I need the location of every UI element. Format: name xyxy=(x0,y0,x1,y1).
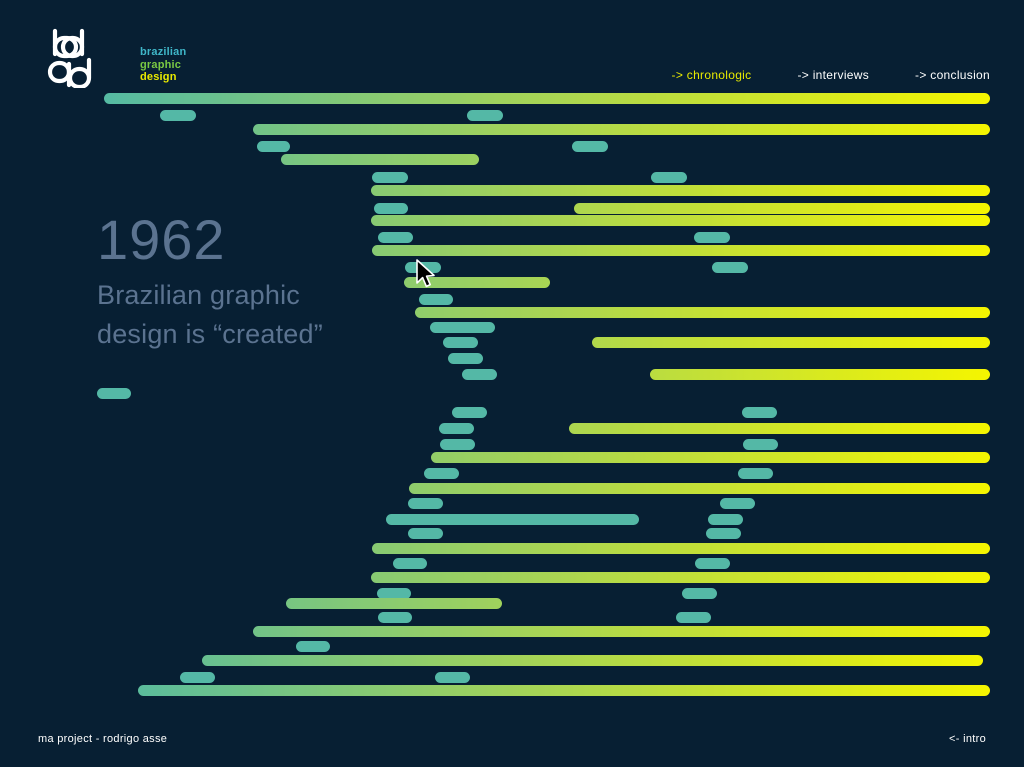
footer-credit: ma project - rodrigo asse xyxy=(38,733,167,745)
timeline-marker[interactable] xyxy=(708,514,743,525)
page-subtitle-line1: Brazilian graphic xyxy=(97,276,417,315)
timeline-bar[interactable] xyxy=(253,124,990,135)
timeline-marker[interactable] xyxy=(408,498,443,509)
timeline-bar[interactable] xyxy=(371,572,990,583)
timeline-marker[interactable] xyxy=(467,110,503,121)
timeline-marker[interactable] xyxy=(440,439,475,450)
timeline-bar[interactable] xyxy=(371,185,990,196)
timeline-marker[interactable] xyxy=(695,558,730,569)
timeline-marker[interactable] xyxy=(743,439,778,450)
timeline-bar[interactable] xyxy=(253,626,990,637)
brand-word-graphic: graphic xyxy=(140,59,186,72)
timeline-marker[interactable] xyxy=(462,369,497,380)
timeline-marker[interactable] xyxy=(430,322,495,333)
timeline-marker[interactable] xyxy=(651,172,687,183)
timeline-marker[interactable] xyxy=(720,498,755,509)
timeline-marker[interactable] xyxy=(738,468,773,479)
timeline-marker[interactable] xyxy=(694,232,730,243)
timeline-marker[interactable] xyxy=(452,407,487,418)
timeline-bar[interactable] xyxy=(569,423,990,434)
timeline-marker[interactable] xyxy=(439,423,474,434)
timeline-marker[interactable] xyxy=(682,588,717,599)
timeline-marker[interactable] xyxy=(386,514,639,525)
page-subtitle: Brazilian graphic design is “created” xyxy=(97,276,417,354)
brand-word-brazilian: brazilian xyxy=(140,46,186,59)
timeline-marker[interactable] xyxy=(372,172,408,183)
timeline-bar[interactable] xyxy=(415,307,990,318)
timeline-bar[interactable] xyxy=(431,452,990,463)
page-footer: ma project - rodrigo asse <- intro xyxy=(0,733,1024,745)
timeline-bar[interactable] xyxy=(592,337,990,348)
footer-back-link[interactable]: <- intro xyxy=(949,733,986,745)
brand-logo[interactable]: brazilian graphic design xyxy=(46,28,206,90)
timeline-marker[interactable] xyxy=(408,528,443,539)
timeline-marker[interactable] xyxy=(180,672,215,683)
timeline-bar[interactable] xyxy=(138,685,990,696)
timeline-marker[interactable] xyxy=(706,528,741,539)
page-root: brazilian graphic design -> chronologic-… xyxy=(0,0,1024,767)
timeline-marker[interactable] xyxy=(424,468,459,479)
timeline-marker[interactable] xyxy=(378,612,412,623)
bgd-monogram-icon xyxy=(46,28,96,88)
timeline-marker[interactable] xyxy=(257,141,290,152)
timeline-marker[interactable] xyxy=(393,558,427,569)
timeline-bar[interactable] xyxy=(372,245,990,256)
timeline-marker[interactable] xyxy=(443,337,478,348)
brand-wordmark: brazilian graphic design xyxy=(140,46,186,84)
timeline-bar[interactable] xyxy=(104,93,990,104)
timeline-bar[interactable] xyxy=(372,543,990,554)
timeline-bar[interactable] xyxy=(574,203,990,214)
timeline-marker[interactable] xyxy=(419,294,453,305)
main-navigation: -> chronologic-> interviews-> conclusion xyxy=(672,68,990,82)
timeline-bar[interactable] xyxy=(409,483,990,494)
timeline-marker[interactable] xyxy=(742,407,777,418)
timeline-bar[interactable] xyxy=(286,598,502,609)
timeline-marker[interactable] xyxy=(676,612,711,623)
timeline-marker[interactable] xyxy=(712,262,748,273)
mouse-pointer-icon xyxy=(415,259,437,289)
nav-interviews[interactable]: -> interviews xyxy=(797,68,869,82)
nav-chronologic[interactable]: -> chronologic xyxy=(672,68,752,82)
timeline-bar[interactable] xyxy=(202,655,983,666)
nav-conclusion[interactable]: -> conclusion xyxy=(915,68,990,82)
timeline-marker[interactable] xyxy=(160,110,196,121)
timeline-marker[interactable] xyxy=(435,672,470,683)
timeline-marker[interactable] xyxy=(448,353,483,364)
brand-word-design: design xyxy=(140,71,186,84)
timeline-bar[interactable] xyxy=(371,215,990,226)
headline-block: 1962 Brazilian graphic design is “create… xyxy=(97,212,417,354)
timeline-bar[interactable] xyxy=(281,154,479,165)
page-year: 1962 xyxy=(97,212,417,268)
timeline-marker[interactable] xyxy=(572,141,608,152)
page-subtitle-line2: design is “created” xyxy=(97,315,417,354)
timeline-marker[interactable] xyxy=(97,388,131,399)
timeline-marker[interactable] xyxy=(296,641,330,652)
timeline-bar[interactable] xyxy=(650,369,990,380)
timeline-bar-chart xyxy=(0,0,1024,767)
